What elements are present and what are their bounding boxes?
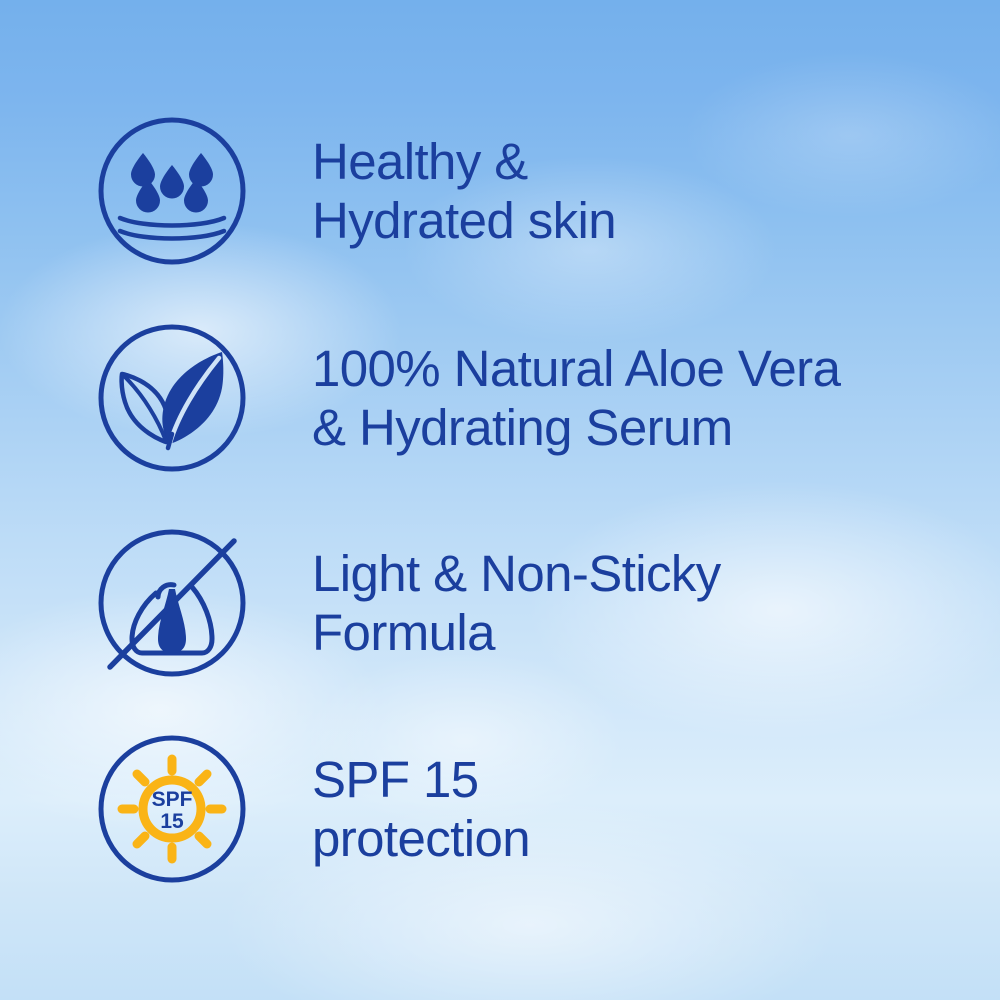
feature-item-hydrated-skin: Healthy & Hydrated skin — [96, 115, 616, 267]
hydrated-skin-icon — [96, 115, 248, 267]
feature-item-aloe-vera: 100% Natural Aloe Vera & Hydrating Serum — [96, 322, 840, 474]
feature-list: Healthy & Hydrated skin 100% Natural — [0, 0, 1000, 1000]
feature-item-non-sticky: Light & Non-Sticky Formula — [96, 527, 721, 679]
feature-item-spf: SPF 15 SPF 15 protection — [96, 733, 530, 885]
spf-sun-icon: SPF 15 — [96, 733, 248, 885]
product-benefits-canvas: Healthy & Hydrated skin 100% Natural — [0, 0, 1000, 1000]
aloe-leaf-icon — [96, 322, 248, 474]
feature-label-aloe-vera: 100% Natural Aloe Vera & Hydrating Serum — [312, 339, 840, 457]
feature-label-non-sticky: Light & Non-Sticky Formula — [312, 544, 721, 662]
spf-badge-line2: 15 — [160, 810, 184, 833]
non-sticky-icon — [96, 527, 248, 679]
feature-label-spf: SPF 15 protection — [312, 750, 530, 868]
feature-label-hydrated-skin: Healthy & Hydrated skin — [312, 132, 616, 250]
spf-badge-line1: SPF — [152, 788, 193, 811]
